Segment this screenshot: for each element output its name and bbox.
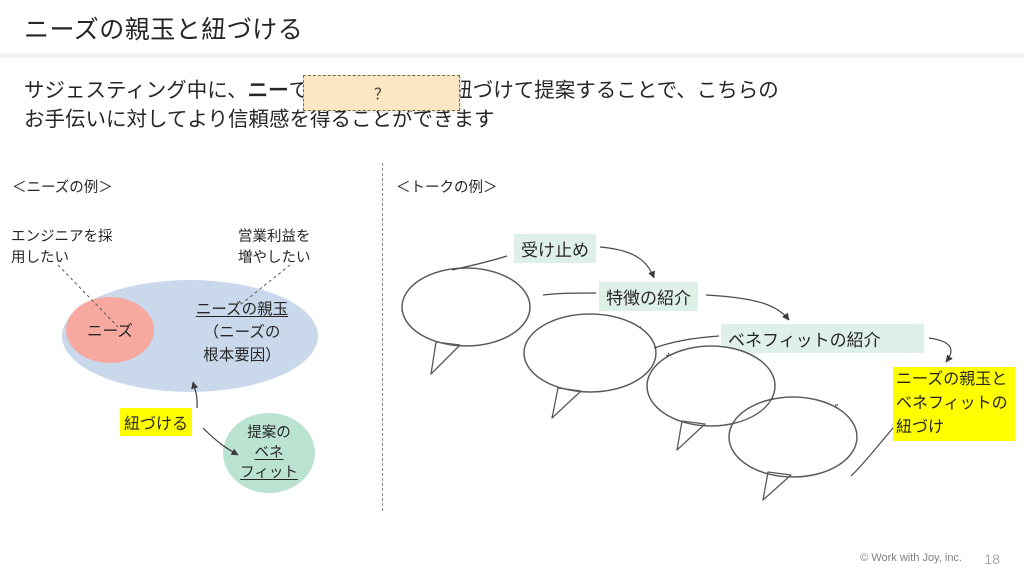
footer-copyright: © Work with Joy, inc. — [860, 552, 962, 564]
lead-text-before: サジェスティング中に、 — [24, 79, 248, 102]
annotation-operating-profit: 営業利益を 増やしたい — [238, 227, 348, 269]
footer-page-number: 18 — [984, 551, 1000, 567]
benefit-circle: 提案の ベネ フィット — [223, 413, 315, 493]
benefit-line-1: 提案の — [247, 423, 291, 443]
annotation-engineer-hire: エンジニアを採 用したい — [11, 227, 151, 269]
needs-circle-label: ニーズ — [87, 319, 133, 341]
title-divider — [0, 52, 1024, 59]
bubble-text-1: 案件が増えれば 1人あたりの負荷 が増えますよね — [405, 276, 527, 330]
oyadama-title: ニーズの親玉 — [196, 301, 288, 318]
link-label-highlight: 紐づける — [120, 408, 192, 436]
slide-canvas: ニーズの親玉と紐づける サジェスティング中に、ニーでベネフィットを紐づけて提案す… — [0, 0, 1024, 576]
right-section-caption: ＜トークの例＞ — [396, 176, 498, 197]
oyadama-sub-line-2: 根本要因） — [203, 347, 281, 364]
needs-circle: ニーズ — [66, 297, 154, 363]
oyadama-text-block: ニーズの親玉 （ニーズの 根本要因） — [172, 298, 312, 367]
left-section-caption: ＜ニーズの例＞ — [12, 176, 113, 197]
lead-paragraph: サジェスティング中に、ニーでベネフィットを紐づけて提案することで、こちらの お手… — [24, 76, 999, 134]
bubble-text-2: そこでエンジニア の友人紹介制度 で採用できます — [525, 323, 655, 377]
bubble-text-4: しかも採用費が かからないので 営業利益が増え ます！ — [734, 402, 852, 474]
question-mark-label: ？ — [374, 83, 389, 104]
question-placeholder-box[interactable]: ？ — [303, 75, 460, 111]
benefit-line-3: フィット — [240, 463, 298, 483]
chip-uketome: 受け止め — [514, 234, 596, 263]
page-title: ニーズの親玉と紐づける — [24, 10, 303, 46]
vertical-divider — [382, 163, 383, 511]
oyadama-sub-line-1: （ニーズの — [204, 324, 281, 341]
chip-tokucho: 特徴の紹介 — [599, 282, 698, 311]
lead-text-bold: ニー — [248, 79, 289, 102]
chip-benefit: ベネフィットの紹介 — [721, 324, 924, 353]
final-link-label: ニーズの親玉とベネフィットの紐づけ — [893, 367, 1015, 441]
benefit-line-2: ベネ — [255, 443, 284, 463]
